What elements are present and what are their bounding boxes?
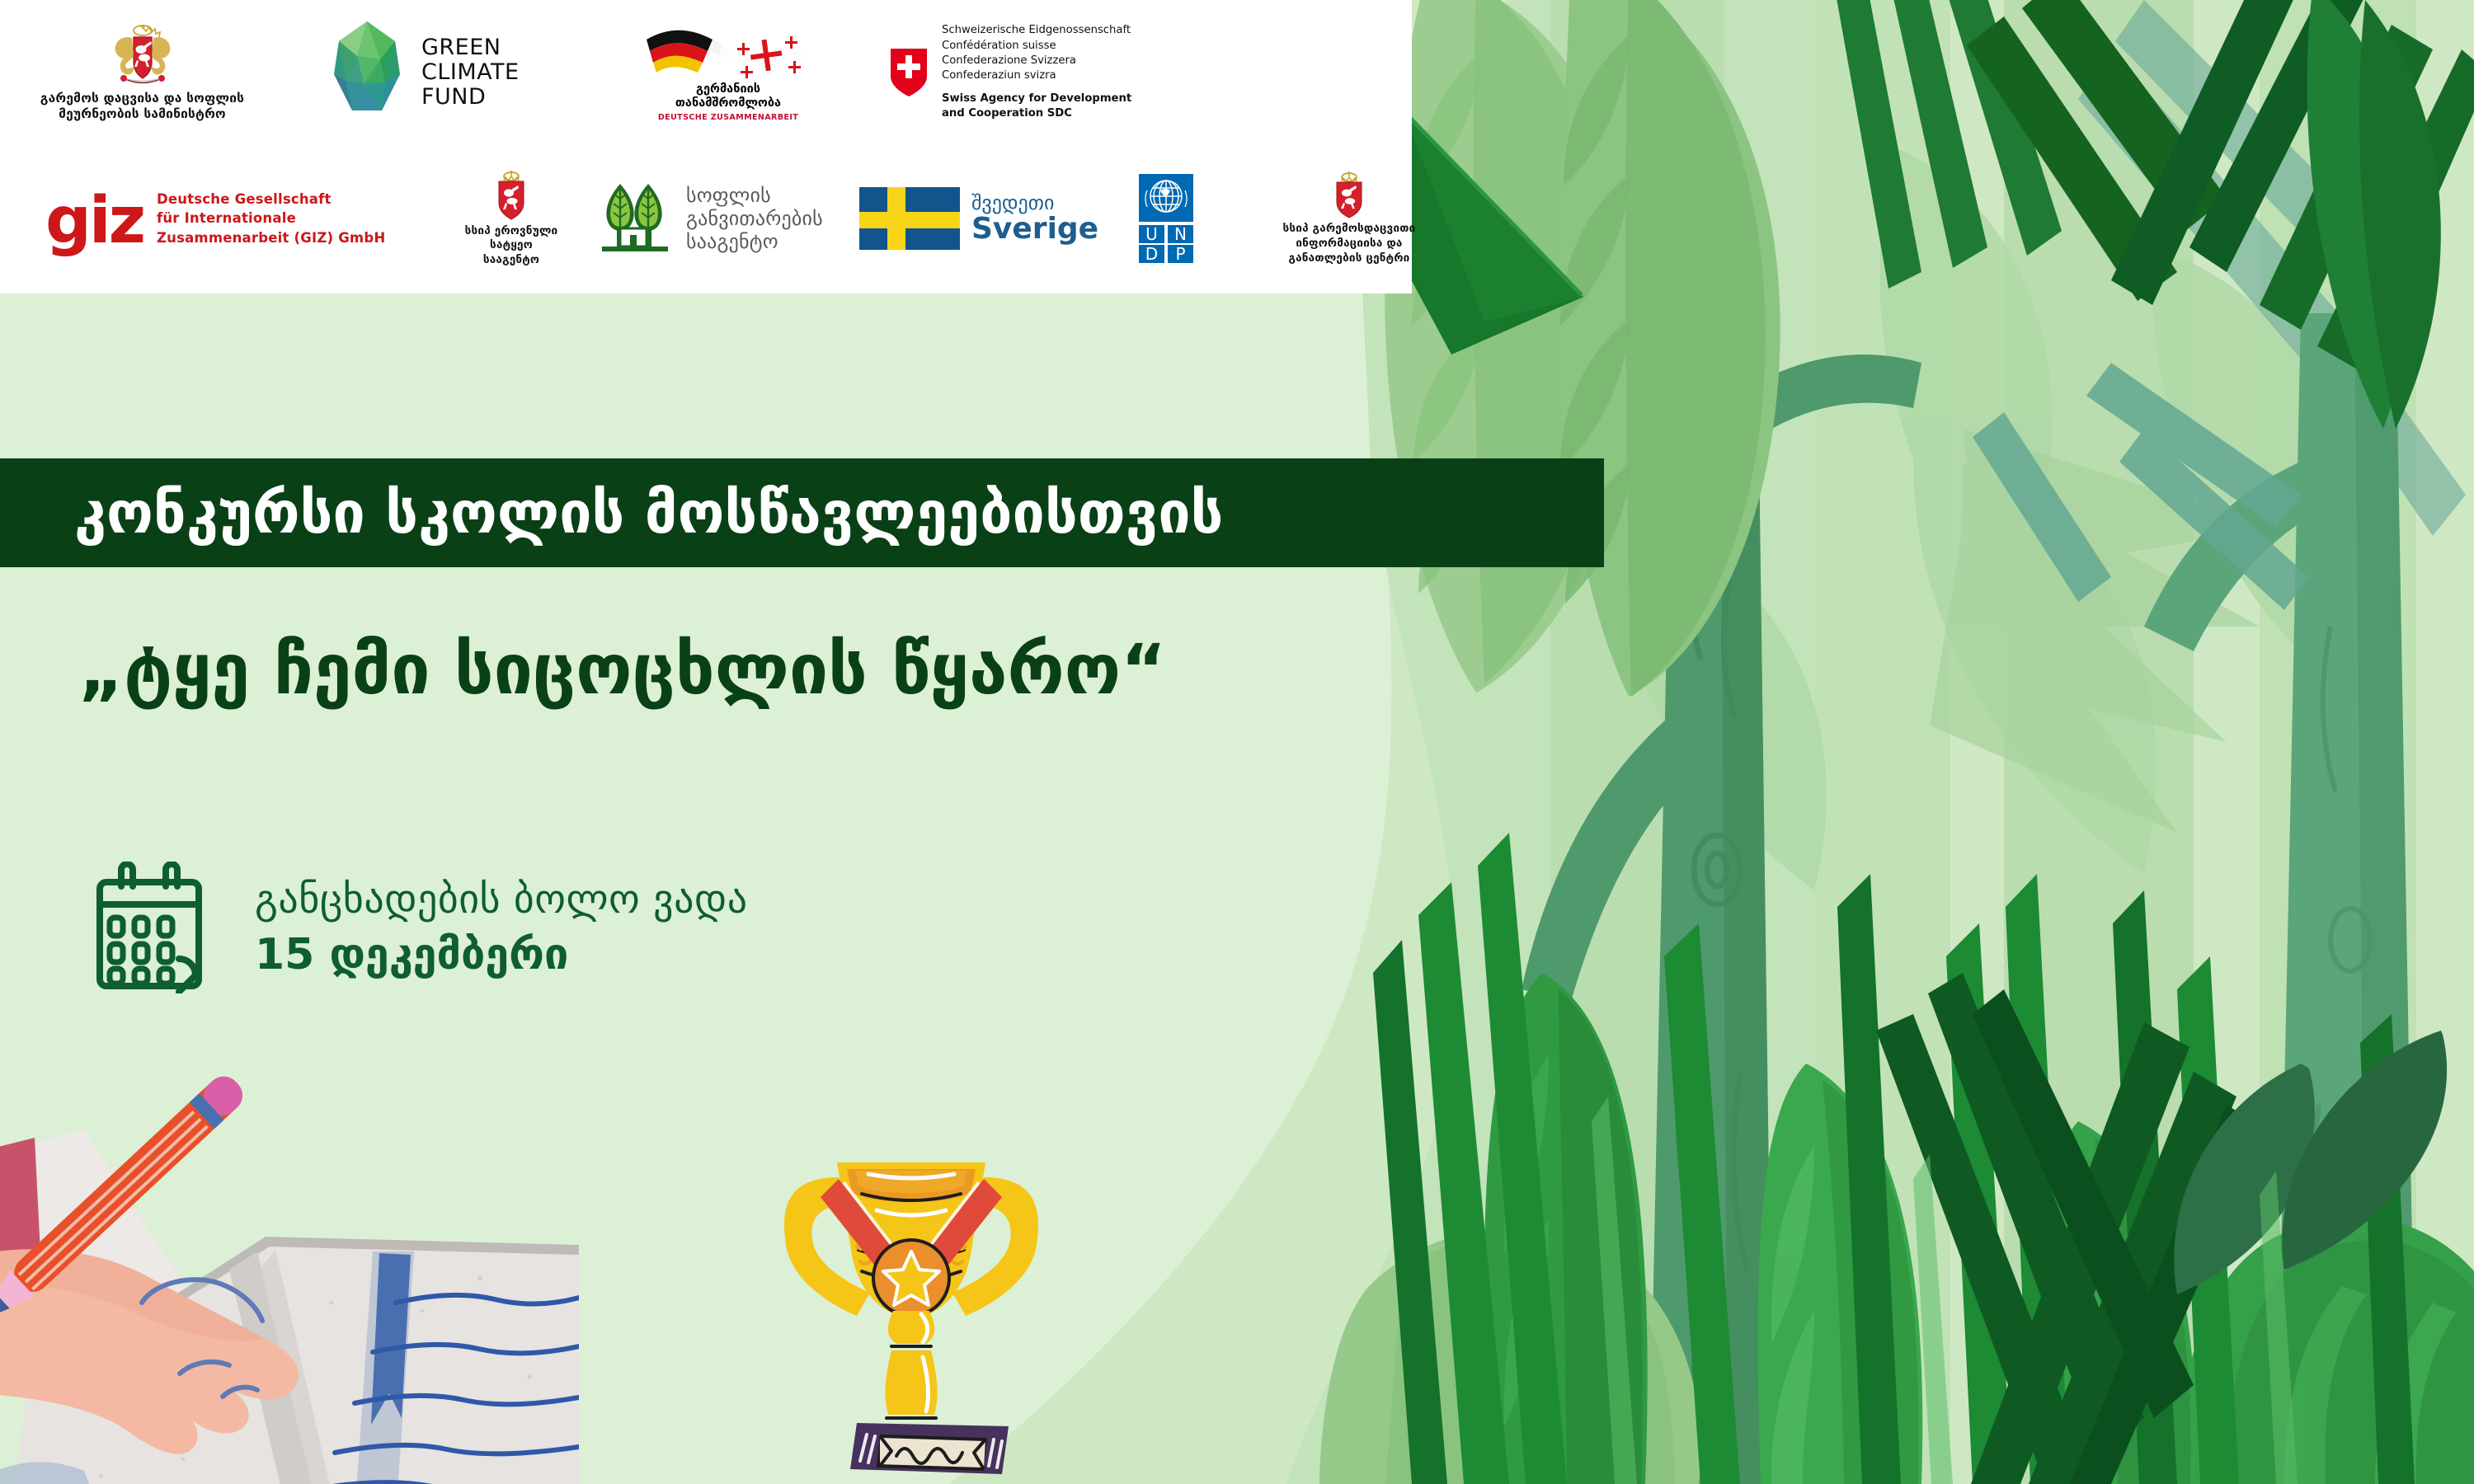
german-georgian-flag-ribbon-icon bbox=[640, 23, 817, 81]
sdc-bold-1: Swiss Agency for Development bbox=[942, 92, 1131, 105]
logo-giz: giz Deutsche Gesellschaft für Internatio… bbox=[45, 190, 425, 247]
logo-green-climate-fund: GREENCLIMATEFUND bbox=[324, 20, 571, 125]
gcf-line-3: FUND bbox=[421, 84, 486, 110]
georgia-coat-of-arms-icon bbox=[492, 170, 530, 221]
undp-globe-icon: U N D P bbox=[1136, 174, 1197, 263]
hand-writing-in-notebook-illustration bbox=[0, 1031, 579, 1484]
logo-sweden: შვედეთი Sverige bbox=[859, 187, 1107, 250]
logo-forestry-agency-label: სსიპ ეროვნულისატყეო სააგენტო bbox=[462, 224, 561, 268]
deadline-label: განცხადების ბოლო ვადა bbox=[255, 877, 748, 923]
svg-text:D: D bbox=[1145, 244, 1158, 263]
logo-sweden-label-ka: შვედეთი bbox=[971, 193, 1098, 214]
sdc-line-de: Schweizerische Eidgenossenschaft bbox=[942, 24, 1131, 36]
sdc-bold-2: and Cooperation SDC bbox=[942, 107, 1072, 120]
logo-neiec-label: სსიპ გარემოსდაცვითი ინფორმაციისა და განა… bbox=[1283, 222, 1416, 265]
gcf-line-2: CLIMATE bbox=[421, 59, 520, 85]
deadline-date: 15 დეკემბერი bbox=[255, 929, 748, 980]
green-climate-fund-icon bbox=[324, 20, 410, 125]
logo-rural-development-label: სოფლის განვითარების სააგენტო bbox=[686, 184, 823, 254]
swiss-cross-shield-icon bbox=[889, 47, 929, 98]
logo-swiss-sdc: Schweizerische Eidgenossenschaft Confédé… bbox=[889, 23, 1161, 121]
neiec-line-3: განათლების ცენტრი bbox=[1289, 251, 1410, 265]
svg-text:U: U bbox=[1145, 224, 1158, 244]
logo-sdc-multilang: Schweizerische Eidgenossenschaft Confédé… bbox=[942, 23, 1131, 83]
georgia-coat-of-arms-icon bbox=[107, 23, 178, 87]
headline-banner: კონკურსი სკოლის მოსწავლეებისთვის bbox=[0, 458, 1604, 567]
georgia-coat-of-arms-icon bbox=[1331, 171, 1367, 218]
two-trees-house-icon bbox=[595, 181, 675, 256]
logo-giz-label: Deutsche Gesellschaft für Internationale… bbox=[157, 190, 385, 247]
logo-national-forestry-agency: სსიპ ეროვნულისატყეო სააგენტო bbox=[462, 170, 561, 268]
logo-environmental-information-education-center: სსიპ გარემოსდაცვითი ინფორმაციისა და განა… bbox=[1246, 171, 1452, 265]
rda-line-3: სააგენტო bbox=[686, 230, 778, 253]
rda-line-2: განვითარების bbox=[686, 207, 823, 230]
deadline-block: განცხადების ბოლო ვადა 15 დეკემბერი bbox=[87, 862, 748, 997]
sponsor-logo-bar: გარემოს დაცვისა და სოფლისმეურნეობის სამი… bbox=[0, 0, 1412, 294]
giz-line-3: Zusammenarbeit (GIZ) GmbH bbox=[157, 230, 385, 246]
svg-text:P: P bbox=[1175, 244, 1185, 263]
sdc-line-fr: Confédération suisse bbox=[942, 40, 1056, 52]
gold-trophy-illustration bbox=[746, 1146, 1076, 1484]
logo-rural-development-agency: სოფლის განვითარების სააგენტო bbox=[595, 181, 826, 256]
logo-ministry-label: გარემოს დაცვისა და სოფლისმეურნეობის სამი… bbox=[40, 91, 244, 122]
poster-canvas: გარემოს დაცვისა და სოფლისმეურნეობის სამი… bbox=[0, 0, 2474, 1484]
neiec-line-2: ინფორმაციისა და bbox=[1296, 237, 1402, 250]
logo-row-bottom: giz Deutsche Gesellschaft für Internatio… bbox=[0, 157, 1457, 280]
logo-undp: U N D P bbox=[1136, 174, 1210, 263]
logo-sweden-label-sv: Sverige bbox=[971, 214, 1098, 245]
subtitle: „ტყე ჩემი სიცოცხლის წყარო“ bbox=[78, 635, 1166, 704]
neiec-line-1: სსიპ გარემოსდაცვითი bbox=[1283, 222, 1416, 235]
logo-sdc-agency-name: Swiss Agency for Development and Coopera… bbox=[942, 92, 1131, 121]
page-title: კონკურსი სკოლის მოსწავლეებისთვის bbox=[0, 484, 1223, 542]
logo-german-cooperation-label-de: DEUTSCHE ZUSAMMENARBEIT bbox=[658, 113, 798, 122]
sdc-line-it: Confederazione Svizzera bbox=[942, 54, 1076, 67]
logo-german-cooperation-label-ka: გერმანიისთანამშრომლობა bbox=[675, 82, 781, 111]
sweden-flag-icon bbox=[859, 187, 960, 250]
logo-ministry-of-environment: გარემოს დაცვისა და სოფლისმეურნეობის სამი… bbox=[33, 23, 252, 122]
rda-line-1: სოფლის bbox=[686, 184, 771, 207]
calendar-icon bbox=[87, 862, 212, 997]
logo-german-cooperation: გერმანიისთანამშრომლობა DEUTSCHE ZUSAMMEN… bbox=[633, 23, 823, 123]
logo-row-top: გარემოს დაცვისა და სოფლისმეურნეობის სამი… bbox=[0, 7, 1445, 139]
gcf-line-1: GREEN bbox=[421, 35, 501, 60]
logo-gcf-label: GREENCLIMATEFUND bbox=[421, 35, 520, 110]
giz-line-1: Deutsche Gesellschaft bbox=[157, 191, 332, 207]
sdc-line-rm: Confederaziun svizra bbox=[942, 69, 1056, 82]
svg-text:N: N bbox=[1174, 224, 1187, 244]
giz-wordmark-icon: giz bbox=[45, 195, 143, 248]
giz-line-2: für Internationale bbox=[157, 210, 296, 226]
